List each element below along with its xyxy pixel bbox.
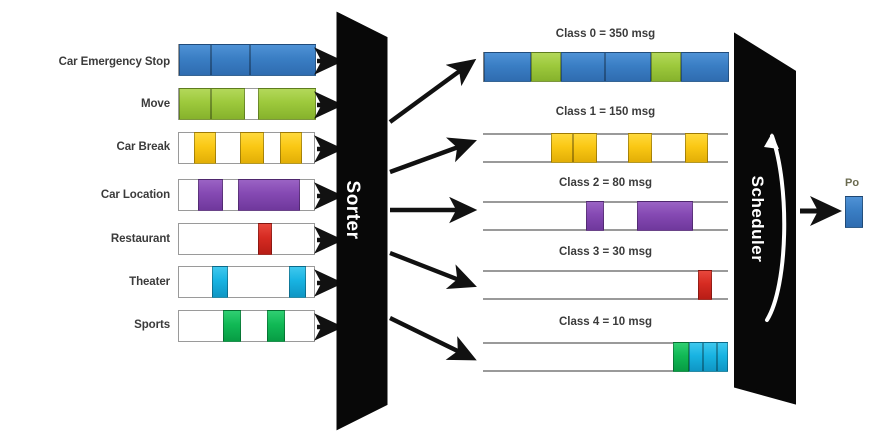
class-segment [605,52,651,82]
scheduler-label: Scheduler [747,176,767,263]
output-box [845,196,863,228]
class-segment [673,342,689,372]
class-segment [628,133,652,163]
class-title-1: Class 1 = 150 msg [483,106,728,118]
class-title-0: Class 0 = 350 msg [483,28,728,40]
class-segment [484,52,531,82]
class-track-0 [483,52,728,82]
class-track-2 [483,201,728,231]
class-title-2: Class 2 = 80 msg [483,177,728,189]
class-track-3 [483,270,728,300]
class-segment [531,52,561,82]
class-segment [561,52,605,82]
class-track-4 [483,342,728,372]
class-segment [685,133,708,163]
class-segment [573,133,597,163]
scheduler-slab [726,0,836,440]
class-segment [637,201,693,231]
class-segment [698,270,712,300]
class-title-4: Class 4 = 10 msg [483,316,728,328]
output-label: Po [845,177,859,189]
class-segment [551,133,573,163]
class-segment [703,342,717,372]
class-track-1 [483,133,728,163]
class-segment [586,201,604,231]
class-segment [689,342,703,372]
diagram-canvas: Car Emergency Stop Move Car Break Car Lo… [0,0,872,440]
class-segment [681,52,729,82]
class-segment [651,52,681,82]
sorter-label: Sorter [341,181,363,240]
class-title-3: Class 3 = 30 msg [483,246,728,258]
